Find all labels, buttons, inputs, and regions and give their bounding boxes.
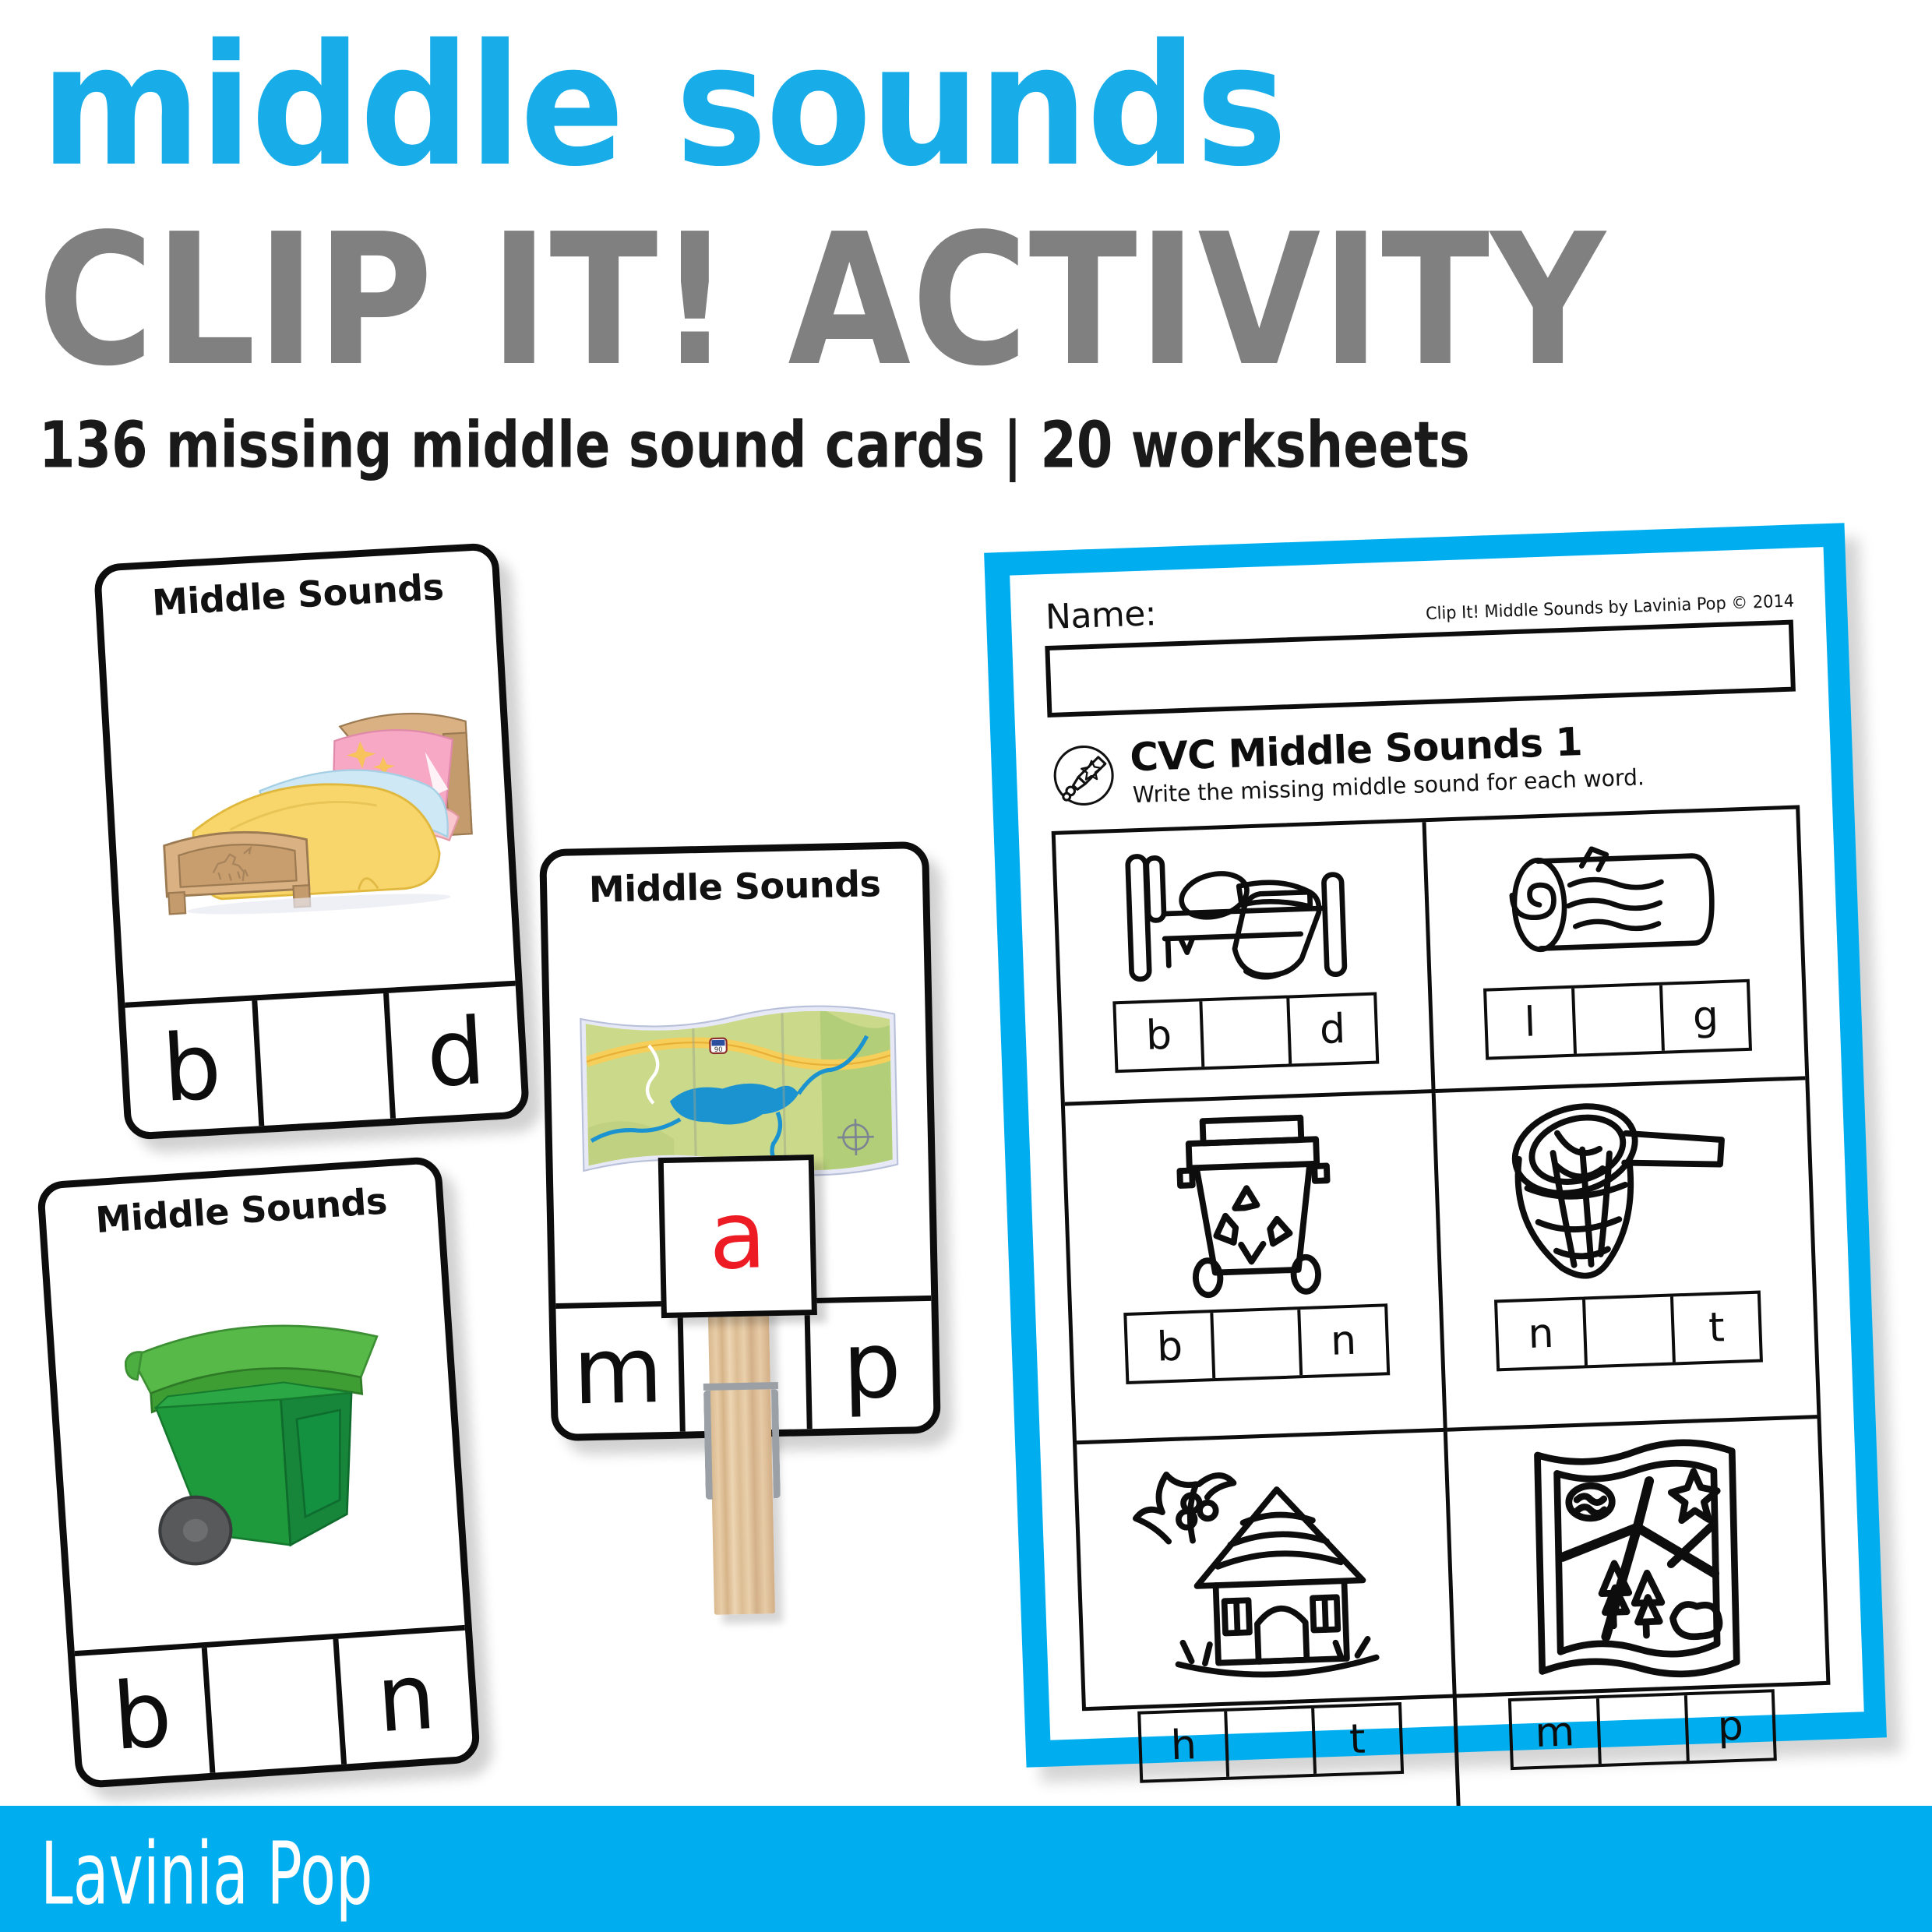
letter-box-blank[interactable] <box>206 1639 347 1773</box>
letter-boxes: l g <box>1483 979 1752 1060</box>
clip-card-title: Middle Sounds <box>546 848 922 911</box>
letter-box[interactable]: g <box>1662 982 1750 1051</box>
letter-box[interactable]: t <box>1673 1294 1761 1363</box>
clip-card-bin[interactable]: Middle Sounds <box>37 1156 481 1789</box>
letter-box[interactable]: m <box>1511 1698 1602 1767</box>
header: middle sounds CLIP IT! ACTIVITY 136 miss… <box>0 0 1932 514</box>
letter-box[interactable]: d <box>1289 996 1375 1064</box>
letter-box[interactable]: l <box>1486 989 1577 1057</box>
letter-boxes: n t <box>1494 1290 1763 1371</box>
letter-box-blank[interactable] <box>257 993 396 1126</box>
letter-box[interactable]: h <box>1141 1712 1229 1780</box>
letter-box[interactable]: p <box>809 1301 933 1429</box>
bed-illustration <box>104 604 515 1002</box>
letter-boxes: m p <box>1508 1689 1777 1770</box>
letter-boxes: b d <box>1112 992 1379 1074</box>
letter-boxes: b d <box>125 981 523 1133</box>
letter-boxes: h t <box>1137 1702 1404 1783</box>
letter-box[interactable]: d <box>389 986 522 1119</box>
letter-box[interactable]: b <box>75 1648 215 1782</box>
letter-box[interactable]: t <box>1314 1705 1400 1774</box>
letter-box-blank[interactable] <box>1203 998 1292 1066</box>
worksheet-item-map[interactable]: m p <box>1447 1419 1832 1867</box>
page-subtitle: CLIP IT! ACTIVITY <box>37 210 1606 392</box>
worksheet-preview[interactable]: Name: Clip It! Middle Sounds by Lavinia … <box>984 523 1887 1768</box>
letter-box[interactable]: m <box>555 1306 685 1434</box>
net-outline-icon <box>1465 1089 1783 1296</box>
bin-illustration <box>48 1218 465 1651</box>
worksheet-page: Name: Clip It! Middle Sounds by Lavinia … <box>1010 547 1864 1740</box>
crayon-circle-icon <box>1049 740 1119 811</box>
clip-card-bed[interactable]: Middle Sounds <box>93 542 530 1141</box>
clipped-letter-card[interactable]: a <box>658 1155 817 1318</box>
letter-box[interactable]: n <box>339 1631 474 1764</box>
letter-box[interactable]: n <box>1497 1299 1588 1368</box>
worksheet-grid: b d <box>1052 805 1831 1711</box>
letter-box-blank[interactable] <box>1599 1695 1690 1764</box>
worksheet-item-net[interactable]: n t <box>1435 1081 1817 1432</box>
letter-box-blank[interactable] <box>1228 1708 1317 1777</box>
letter-boxes: b n <box>1123 1303 1390 1384</box>
letter-box-blank[interactable] <box>1574 985 1665 1054</box>
page-title: middle sounds <box>41 22 1286 189</box>
bed-outline-icon <box>1085 831 1398 998</box>
worksheet-item-bin[interactable]: b n <box>1065 1093 1447 1444</box>
map-outline-icon <box>1477 1427 1797 1694</box>
footer-banner: Lavinia Pop <box>0 1806 1932 1932</box>
letter-boxes: b n <box>75 1625 474 1782</box>
product-cover: middle sounds CLIP IT! ACTIVITY 136 miss… <box>0 0 1932 1932</box>
letter-box[interactable]: b <box>125 1000 264 1133</box>
worksheet-item-bed[interactable]: b d <box>1056 822 1435 1106</box>
name-input-field[interactable] <box>1045 620 1796 717</box>
hut-outline-icon <box>1106 1440 1423 1708</box>
svg-text:90: 90 <box>714 1045 723 1052</box>
clothespin-spring <box>703 1389 781 1500</box>
letter-box[interactable]: n <box>1300 1306 1386 1375</box>
letter-box-blank[interactable] <box>1214 1310 1303 1378</box>
name-label: Name: <box>1045 595 1157 636</box>
letter-box[interactable]: b <box>1116 1001 1204 1070</box>
copyright-notice: Clip It! Middle Sounds by Lavinia Pop © … <box>1426 592 1795 625</box>
log-outline-icon <box>1455 818 1772 985</box>
activity-header: CVC Middle Sounds 1 Write the missing mi… <box>1049 713 1800 823</box>
page-tagline: 136 missing middle sound cards | 20 work… <box>39 411 1470 478</box>
clothespin[interactable]: a <box>702 1302 784 1631</box>
letter-box[interactable]: p <box>1687 1693 1774 1761</box>
bin-outline-icon <box>1095 1102 1409 1309</box>
letter-box[interactable]: b <box>1126 1313 1215 1381</box>
letter-box-blank[interactable] <box>1585 1296 1676 1365</box>
author-name: Lavinia Pop <box>41 1829 373 1919</box>
worksheet-item-log[interactable]: l g <box>1426 809 1805 1094</box>
